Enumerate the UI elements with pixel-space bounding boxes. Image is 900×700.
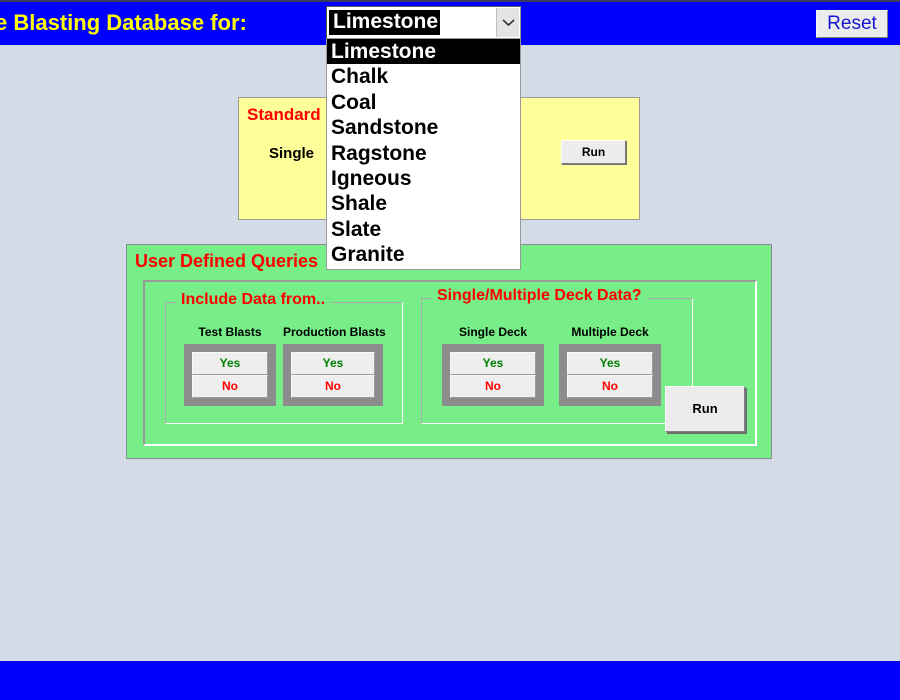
rock-type-dropdown-list[interactable]: LimestoneChalkCoalSandstoneRagstoneIgneo… bbox=[326, 39, 521, 270]
fieldset-single-multiple-deck: Single/Multiple Deck Data? Single Deck Y… bbox=[421, 298, 693, 424]
option-box-single-deck: Yes No bbox=[442, 344, 544, 406]
multiple-deck-no-button[interactable]: No bbox=[567, 375, 653, 398]
standard-queries-title: Standard bbox=[247, 105, 321, 125]
standard-queries-sub-label: Single bbox=[269, 145, 314, 162]
footer-bar bbox=[0, 661, 900, 700]
single-deck-yes-button[interactable]: Yes bbox=[450, 352, 536, 375]
option-group-label-single-deck: Single Deck bbox=[442, 325, 544, 339]
test-blasts-no-button[interactable]: No bbox=[192, 375, 268, 398]
dropdown-option-slate[interactable]: Slate bbox=[327, 217, 520, 242]
option-box-production-blasts: Yes No bbox=[283, 344, 383, 406]
option-group-multiple-deck: Multiple Deck Yes No bbox=[559, 325, 661, 406]
fieldset-include-data-from: Include Data from.. Test Blasts Yes No P… bbox=[165, 302, 403, 424]
reset-button[interactable]: Reset bbox=[816, 10, 888, 38]
page-title: gate Blasting Database for: bbox=[0, 10, 312, 36]
option-box-multiple-deck: Yes No bbox=[559, 344, 661, 406]
option-box-test-blasts: Yes No bbox=[184, 344, 276, 406]
option-group-single-deck: Single Deck Yes No bbox=[442, 325, 544, 406]
option-group-label-production-blasts: Production Blasts bbox=[283, 325, 386, 339]
dropdown-option-limestone[interactable]: Limestone bbox=[327, 39, 520, 64]
fieldset-legend-single-multiple-deck: Single/Multiple Deck Data? bbox=[432, 287, 646, 305]
rock-type-combobox[interactable]: Limestone bbox=[326, 6, 521, 39]
test-blasts-yes-button[interactable]: Yes bbox=[192, 352, 268, 375]
production-blasts-yes-button[interactable]: Yes bbox=[291, 352, 375, 375]
production-blasts-no-button[interactable]: No bbox=[291, 375, 375, 398]
user-defined-queries-title: User Defined Queries bbox=[135, 251, 318, 272]
option-group-test-blasts: Test Blasts Yes No bbox=[184, 325, 276, 406]
dropdown-option-coal[interactable]: Coal bbox=[327, 90, 520, 115]
chevron-down-icon[interactable] bbox=[496, 8, 519, 37]
user-defined-queries-run-button[interactable]: Run bbox=[665, 386, 745, 432]
option-group-production-blasts: Production Blasts Yes No bbox=[283, 325, 386, 406]
dropdown-option-chalk[interactable]: Chalk bbox=[327, 64, 520, 89]
dropdown-option-sandstone[interactable]: Sandstone bbox=[327, 115, 520, 140]
standard-run-button[interactable]: Run bbox=[561, 140, 626, 164]
option-group-label-multiple-deck: Multiple Deck bbox=[559, 325, 661, 339]
option-group-label-test-blasts: Test Blasts bbox=[184, 325, 276, 339]
rock-type-selected-value: Limestone bbox=[329, 10, 440, 35]
dropdown-option-granite[interactable]: Granite bbox=[327, 242, 520, 267]
dropdown-option-igneous[interactable]: Igneous bbox=[327, 166, 520, 191]
dropdown-option-shale[interactable]: Shale bbox=[327, 191, 520, 216]
dropdown-option-ragstone[interactable]: Ragstone bbox=[327, 141, 520, 166]
fieldset-legend-include-data-from: Include Data from.. bbox=[176, 291, 330, 309]
multiple-deck-yes-button[interactable]: Yes bbox=[567, 352, 653, 375]
single-deck-no-button[interactable]: No bbox=[450, 375, 536, 398]
